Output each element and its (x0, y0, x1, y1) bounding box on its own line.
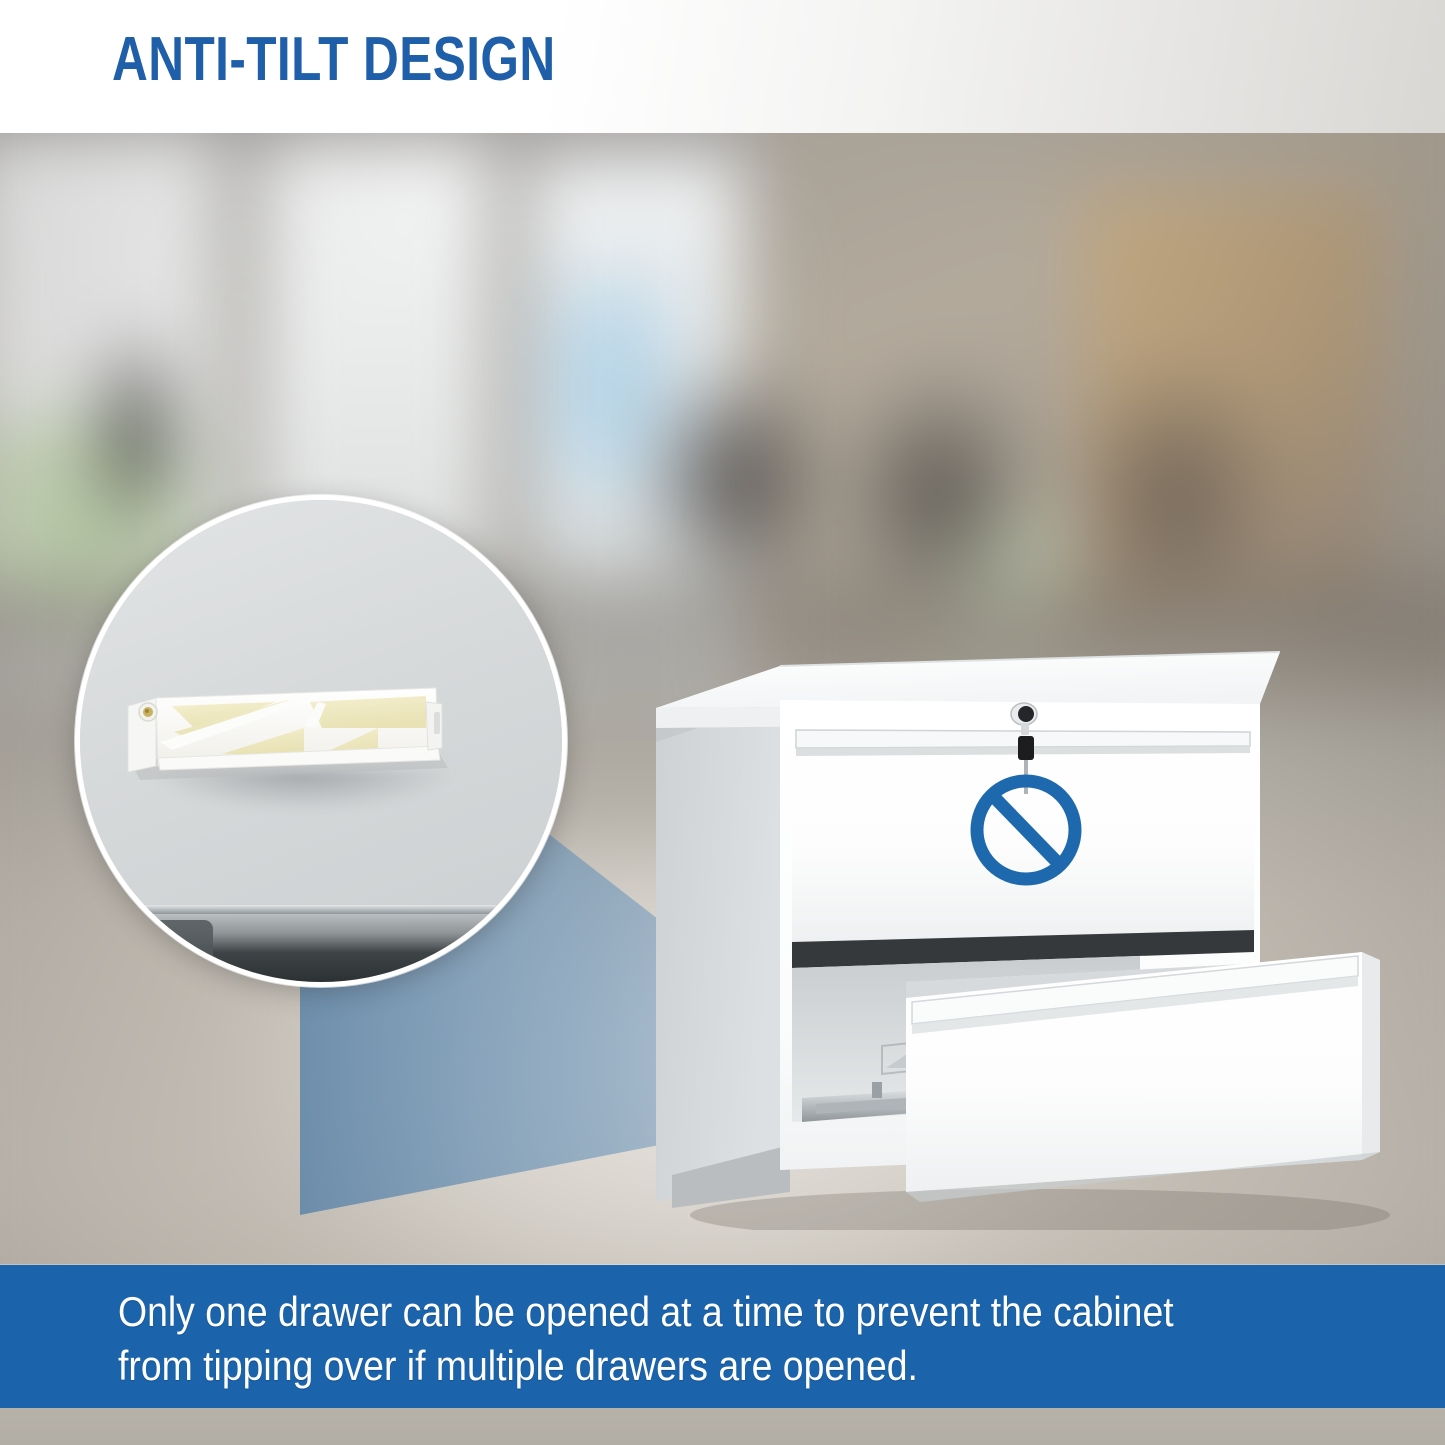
caption-line-1: Only one drawer can be opened at a time … (118, 1285, 1239, 1339)
header-band: ANTI-TILT DESIGN (0, 0, 1445, 133)
cabinet-side-panel (656, 666, 780, 1202)
caption-text: Only one drawer can be opened at a time … (118, 1285, 1239, 1393)
anti-tilt-part (126, 674, 462, 794)
bottom-drawer-right-cap (1362, 952, 1380, 1160)
caption-line-2: from tipping over if multiple drawers ar… (118, 1339, 1239, 1393)
product-feature-image: ANTI-TILT DESIGN Only one drawer can be … (0, 0, 1445, 1445)
part-screw (139, 703, 157, 721)
page-title: ANTI-TILT DESIGN (112, 26, 556, 94)
cabinet-floor-shadow (690, 1189, 1390, 1230)
caption-banner: Only one drawer can be opened at a time … (0, 1265, 1445, 1408)
magnifier-rail-notch (147, 920, 213, 964)
file-cabinet (620, 630, 1400, 1230)
slide-rail-clip (872, 1082, 882, 1098)
bottom-floor-strip (0, 1408, 1445, 1445)
magnifier-inset (75, 495, 567, 987)
magnifier-rail-strip (104, 905, 547, 914)
